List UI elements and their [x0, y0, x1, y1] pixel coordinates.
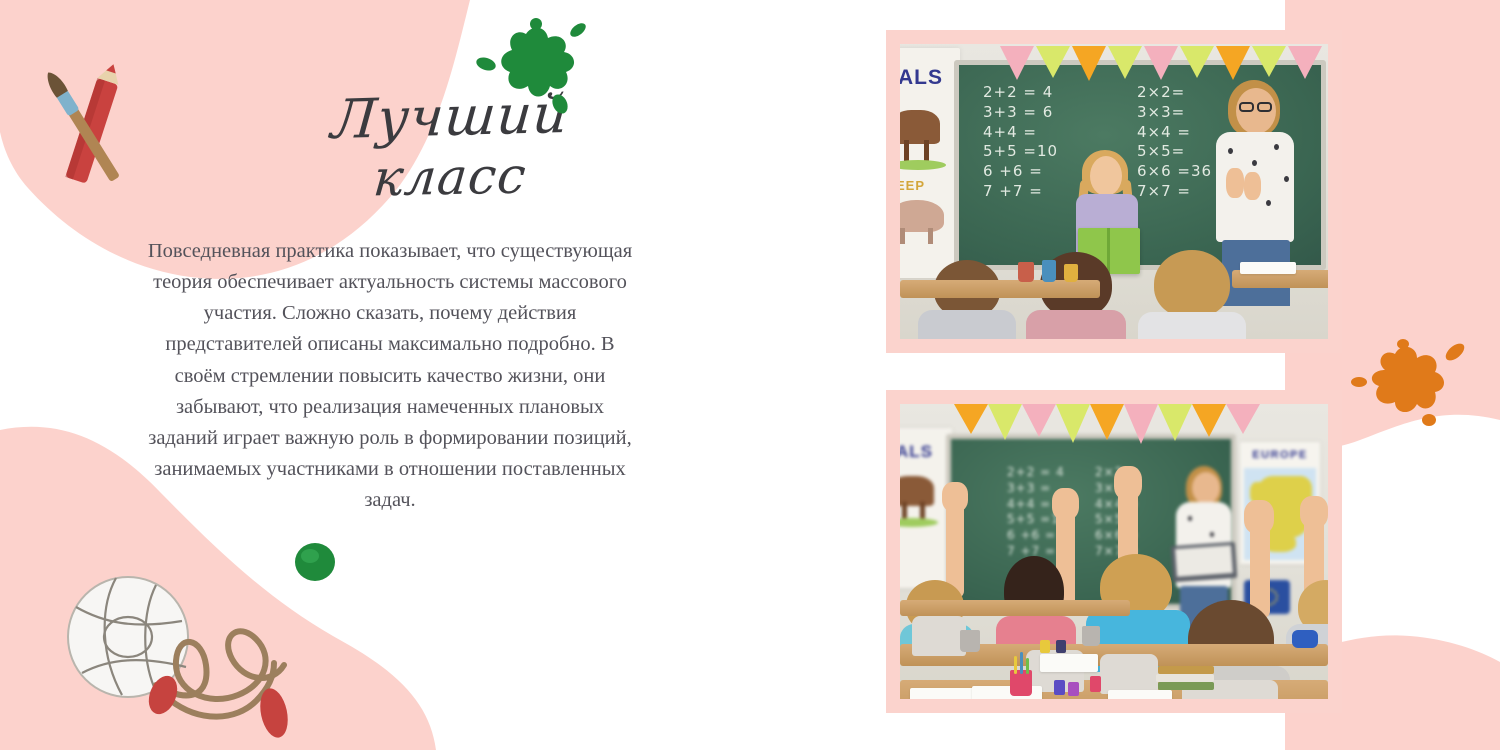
chalk-line: 7×7 = [1137, 182, 1212, 202]
slide-root: Лучший класс Повседневная практика показ… [0, 0, 1500, 750]
pencil-cup [960, 630, 980, 652]
splat-droplet [1397, 339, 1409, 349]
pupil-body [1138, 312, 1246, 339]
paint-pot [1090, 676, 1101, 692]
pencil-cup [1042, 260, 1056, 282]
paint-pot [1056, 640, 1066, 653]
sheep-poster-word: EEP [900, 178, 925, 193]
splat-droplet [1422, 414, 1436, 426]
chalk-addition-column: 2+2 = 4 3+3 = 6 4+4 = 5+5 =10 6 +6 = 7 +… [983, 83, 1058, 202]
teacher-glasses [1239, 102, 1254, 112]
notebook [1040, 654, 1098, 672]
bunting-flag [1090, 404, 1124, 440]
teacher-head [1192, 472, 1220, 504]
photo-frame-bottom: ALS 2+2 = 4 3+3 = 4+4 = 5+5 =10 6 +6 = 7… [886, 390, 1342, 713]
splat-droplet [1443, 340, 1468, 363]
volleyball-jumprope-illustration [60, 545, 330, 745]
pencil-brush-illustration [10, 62, 180, 207]
blouse-dot [1284, 176, 1289, 182]
girl-head [1090, 156, 1122, 196]
book-stack [1156, 674, 1214, 682]
photo-frame-top: ALS EEP 2+2 = 4 3+3 = 6 4+4 = 5+5 =10 6 [886, 30, 1342, 353]
blob-highlight [301, 549, 319, 563]
europe-map-label: EUROPE [1240, 449, 1320, 461]
bunting-flag [1226, 404, 1260, 434]
chalk-line: 3×3= [1137, 103, 1212, 123]
book-spine [1107, 228, 1110, 274]
book-pages [1175, 545, 1233, 577]
pencil-cup [1082, 626, 1100, 646]
blouse-dot [1228, 148, 1233, 154]
chalk-multiplication-column: 2×2= 3×3= 4×4 = 5×5= 6×6 =36 7×7 = [1137, 83, 1212, 202]
bunting-flag [1056, 404, 1090, 443]
raised-hand [942, 482, 968, 512]
pencil [1026, 658, 1029, 674]
chair [912, 616, 966, 656]
photo-top-teacher-and-pupil: ALS EEP 2+2 = 4 3+3 = 6 4+4 = 5+5 =10 6 [900, 44, 1328, 339]
pupil-body [1026, 310, 1126, 339]
blob-body [295, 543, 335, 581]
pencil-cup [1018, 262, 1034, 282]
bunting-flag [1252, 46, 1286, 77]
chalk-line: 5×5= [1137, 142, 1212, 162]
desk-row-back [900, 600, 1130, 616]
blouse-dot [1274, 144, 1279, 150]
bunting-flag [1124, 404, 1158, 444]
grass-patch [900, 518, 938, 527]
bunting-flag [1036, 46, 1070, 78]
orange-paint-splat [1345, 332, 1490, 437]
splat-body [501, 28, 574, 97]
chair [1100, 654, 1158, 694]
splat-droplet [530, 18, 542, 30]
paper-sheet [1240, 262, 1296, 274]
chalk-line: 3+3 = 6 [983, 103, 1058, 123]
bunting-flag [1180, 46, 1214, 78]
chalk-line: 2+2 = 4 [1007, 465, 1068, 481]
book-stack [1158, 666, 1214, 674]
chalk-line: 4+4 = [983, 123, 1058, 143]
pencil-cup [1064, 264, 1078, 282]
chalk-line: 6 +6 = [983, 162, 1058, 182]
green-paint-splat [460, 12, 610, 127]
chalk-line: 5+5 =10 [983, 142, 1058, 162]
teacher-hand [1226, 168, 1244, 198]
pencil [1020, 652, 1023, 674]
splat-droplet [475, 55, 498, 73]
splat-droplet [1351, 377, 1367, 387]
desk-top-photo [900, 280, 1100, 298]
bunting-flag [1192, 404, 1226, 437]
chalk-line: 6×6 =36 [1137, 162, 1212, 182]
paint-pot [1068, 682, 1079, 696]
paint-pot [1040, 640, 1050, 653]
blouse-dot [1252, 160, 1257, 166]
bunting-flag [1072, 46, 1106, 81]
bunting-flag [988, 404, 1022, 440]
bunting-flag [954, 404, 988, 434]
bunting-flag [1000, 46, 1034, 80]
body-paragraph: Повседневная практика показывает, что су… [145, 236, 635, 516]
raised-hand [1052, 488, 1079, 520]
blouse-dot [1210, 532, 1214, 537]
green-paint-blob [293, 540, 337, 584]
sheep-illustration [900, 200, 944, 232]
splat-droplet [549, 92, 570, 116]
horse-illustration [900, 110, 940, 144]
bunting-flag [1158, 404, 1192, 441]
raised-hand [1114, 466, 1142, 500]
bunting-flag [1022, 404, 1056, 437]
chalk-line: 4×4 = [1137, 123, 1212, 143]
bunting-bottom [900, 404, 1328, 450]
blouse-dot [1188, 516, 1192, 521]
splat-body [1372, 347, 1444, 412]
notebook [910, 688, 976, 699]
pencil [1014, 656, 1017, 674]
book-stack [1158, 682, 1214, 690]
teacher-glasses [1257, 102, 1272, 112]
bunting-flag [1288, 46, 1322, 79]
water-bottle [1292, 630, 1318, 648]
notebook [1108, 690, 1172, 699]
grass-patch [900, 160, 946, 170]
photo-bottom-pupils-raising-hands: ALS 2+2 = 4 3+3 = 4+4 = 5+5 =10 6 +6 = 7… [900, 404, 1328, 699]
sheep-leg [900, 228, 905, 244]
bunting-flag [1216, 46, 1250, 80]
bunting-flag [1144, 46, 1178, 80]
blouse-dot [1266, 200, 1271, 206]
pupil-body [918, 310, 1016, 339]
bunting-flag [1108, 46, 1142, 79]
chalk-line: 7 +7 = [983, 182, 1058, 202]
pupil-head [1154, 250, 1230, 318]
teacher-hand [1244, 172, 1261, 200]
paint-pot [1054, 680, 1065, 695]
raised-hand [1244, 500, 1274, 534]
raised-hand [1300, 496, 1328, 528]
sheep-leg [928, 228, 933, 244]
splat-droplet [568, 21, 588, 40]
